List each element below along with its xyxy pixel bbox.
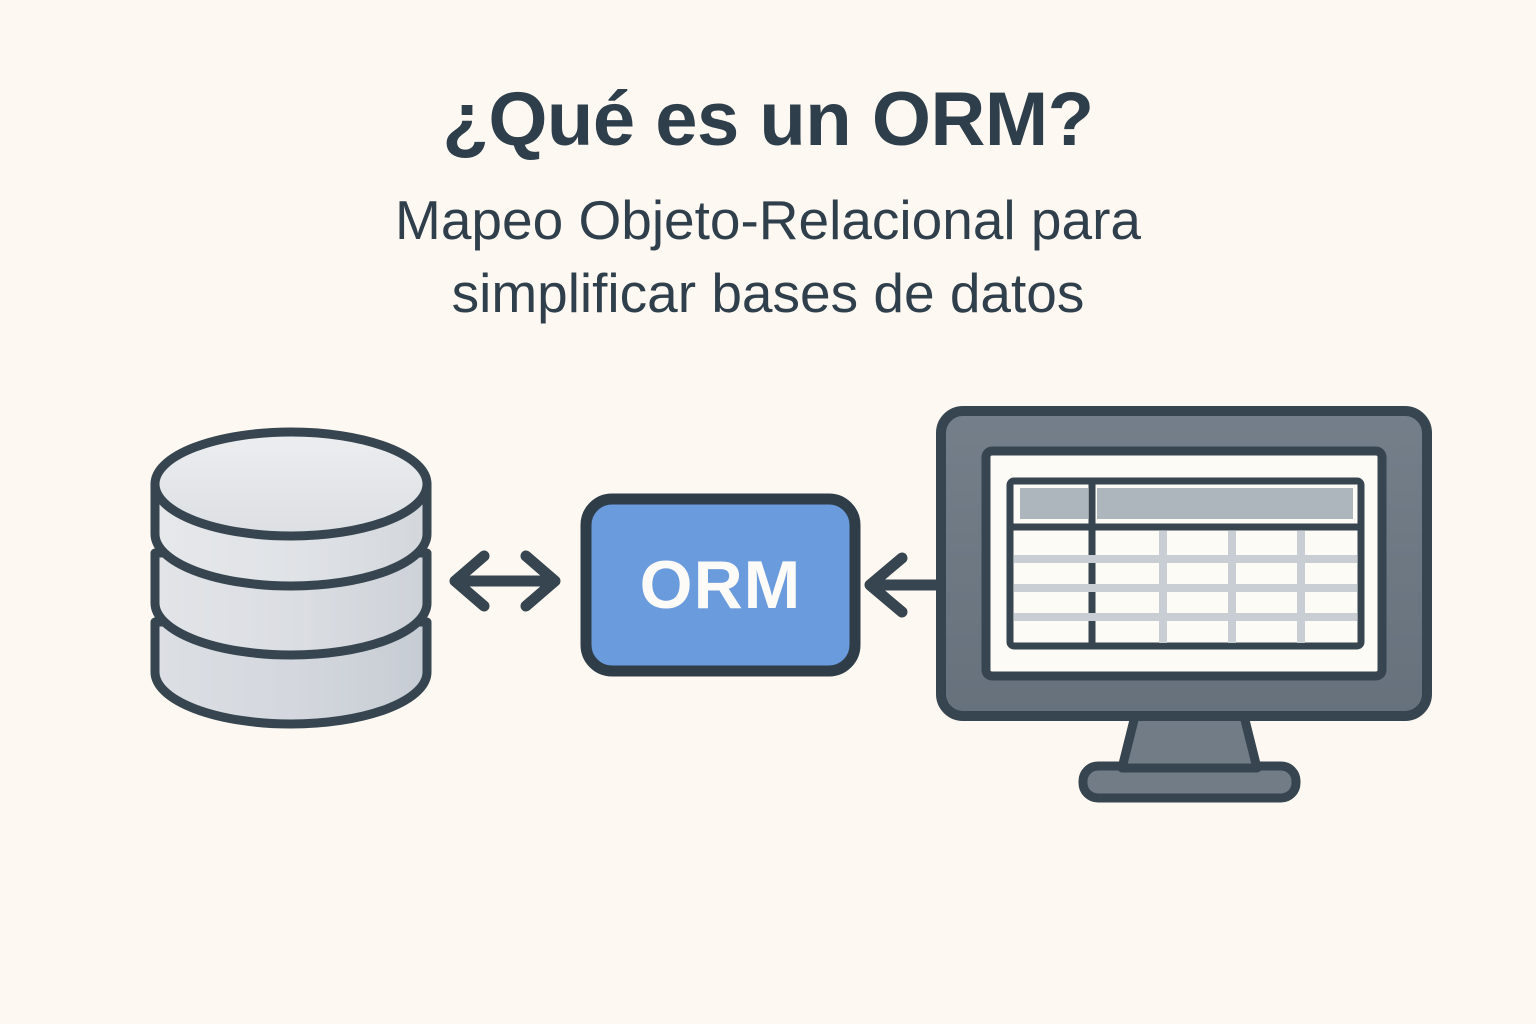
- monitor-table-icon: [941, 411, 1427, 798]
- orm-box[interactable]: [586, 499, 855, 671]
- poster-canvas: ¿Qué es un ORM? Mapeo Objeto-Relacional …: [0, 0, 1536, 1024]
- table-preview: [1010, 481, 1361, 646]
- database-cylinder-icon: [155, 432, 427, 724]
- left-arrow-icon: [870, 558, 944, 612]
- diagram-stage: ORM: [0, 0, 1536, 1024]
- bidirectional-arrow-icon: [455, 556, 555, 606]
